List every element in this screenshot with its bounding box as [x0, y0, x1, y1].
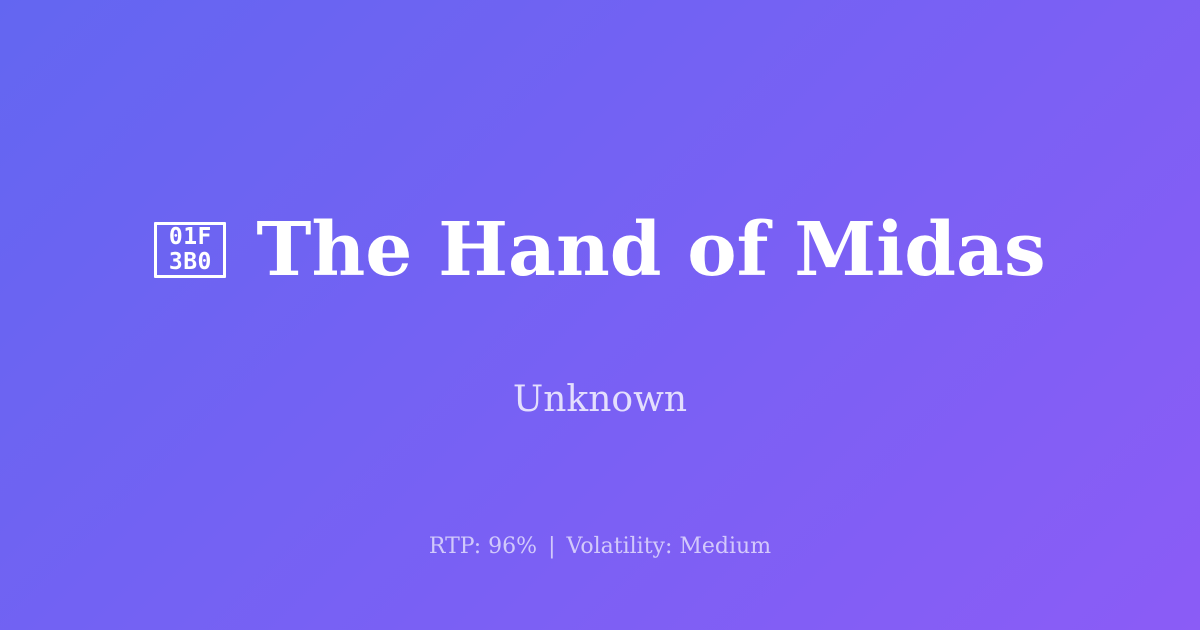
game-og-card: 01F 3B0 The Hand of Midas Unknown RTP: 9… [0, 0, 1200, 630]
meta-separator: | [544, 534, 559, 559]
game-title: The Hand of Midas [256, 212, 1045, 289]
title-row: 01F 3B0 The Hand of Midas [0, 162, 1200, 338]
game-provider: Unknown [513, 378, 687, 421]
rtp-label: RTP: 96% [429, 534, 537, 559]
game-meta-line: RTP: 96% | Volatility: Medium [0, 533, 1200, 562]
slot-machine-icon: 01F 3B0 [154, 222, 226, 278]
glyph-codepoint-top: 01F [169, 226, 212, 249]
hero-block: 01F 3B0 The Hand of Midas Unknown [0, 162, 1200, 421]
volatility-label: Volatility: Medium [567, 534, 772, 559]
glyph-codepoint-bottom: 3B0 [169, 251, 212, 274]
